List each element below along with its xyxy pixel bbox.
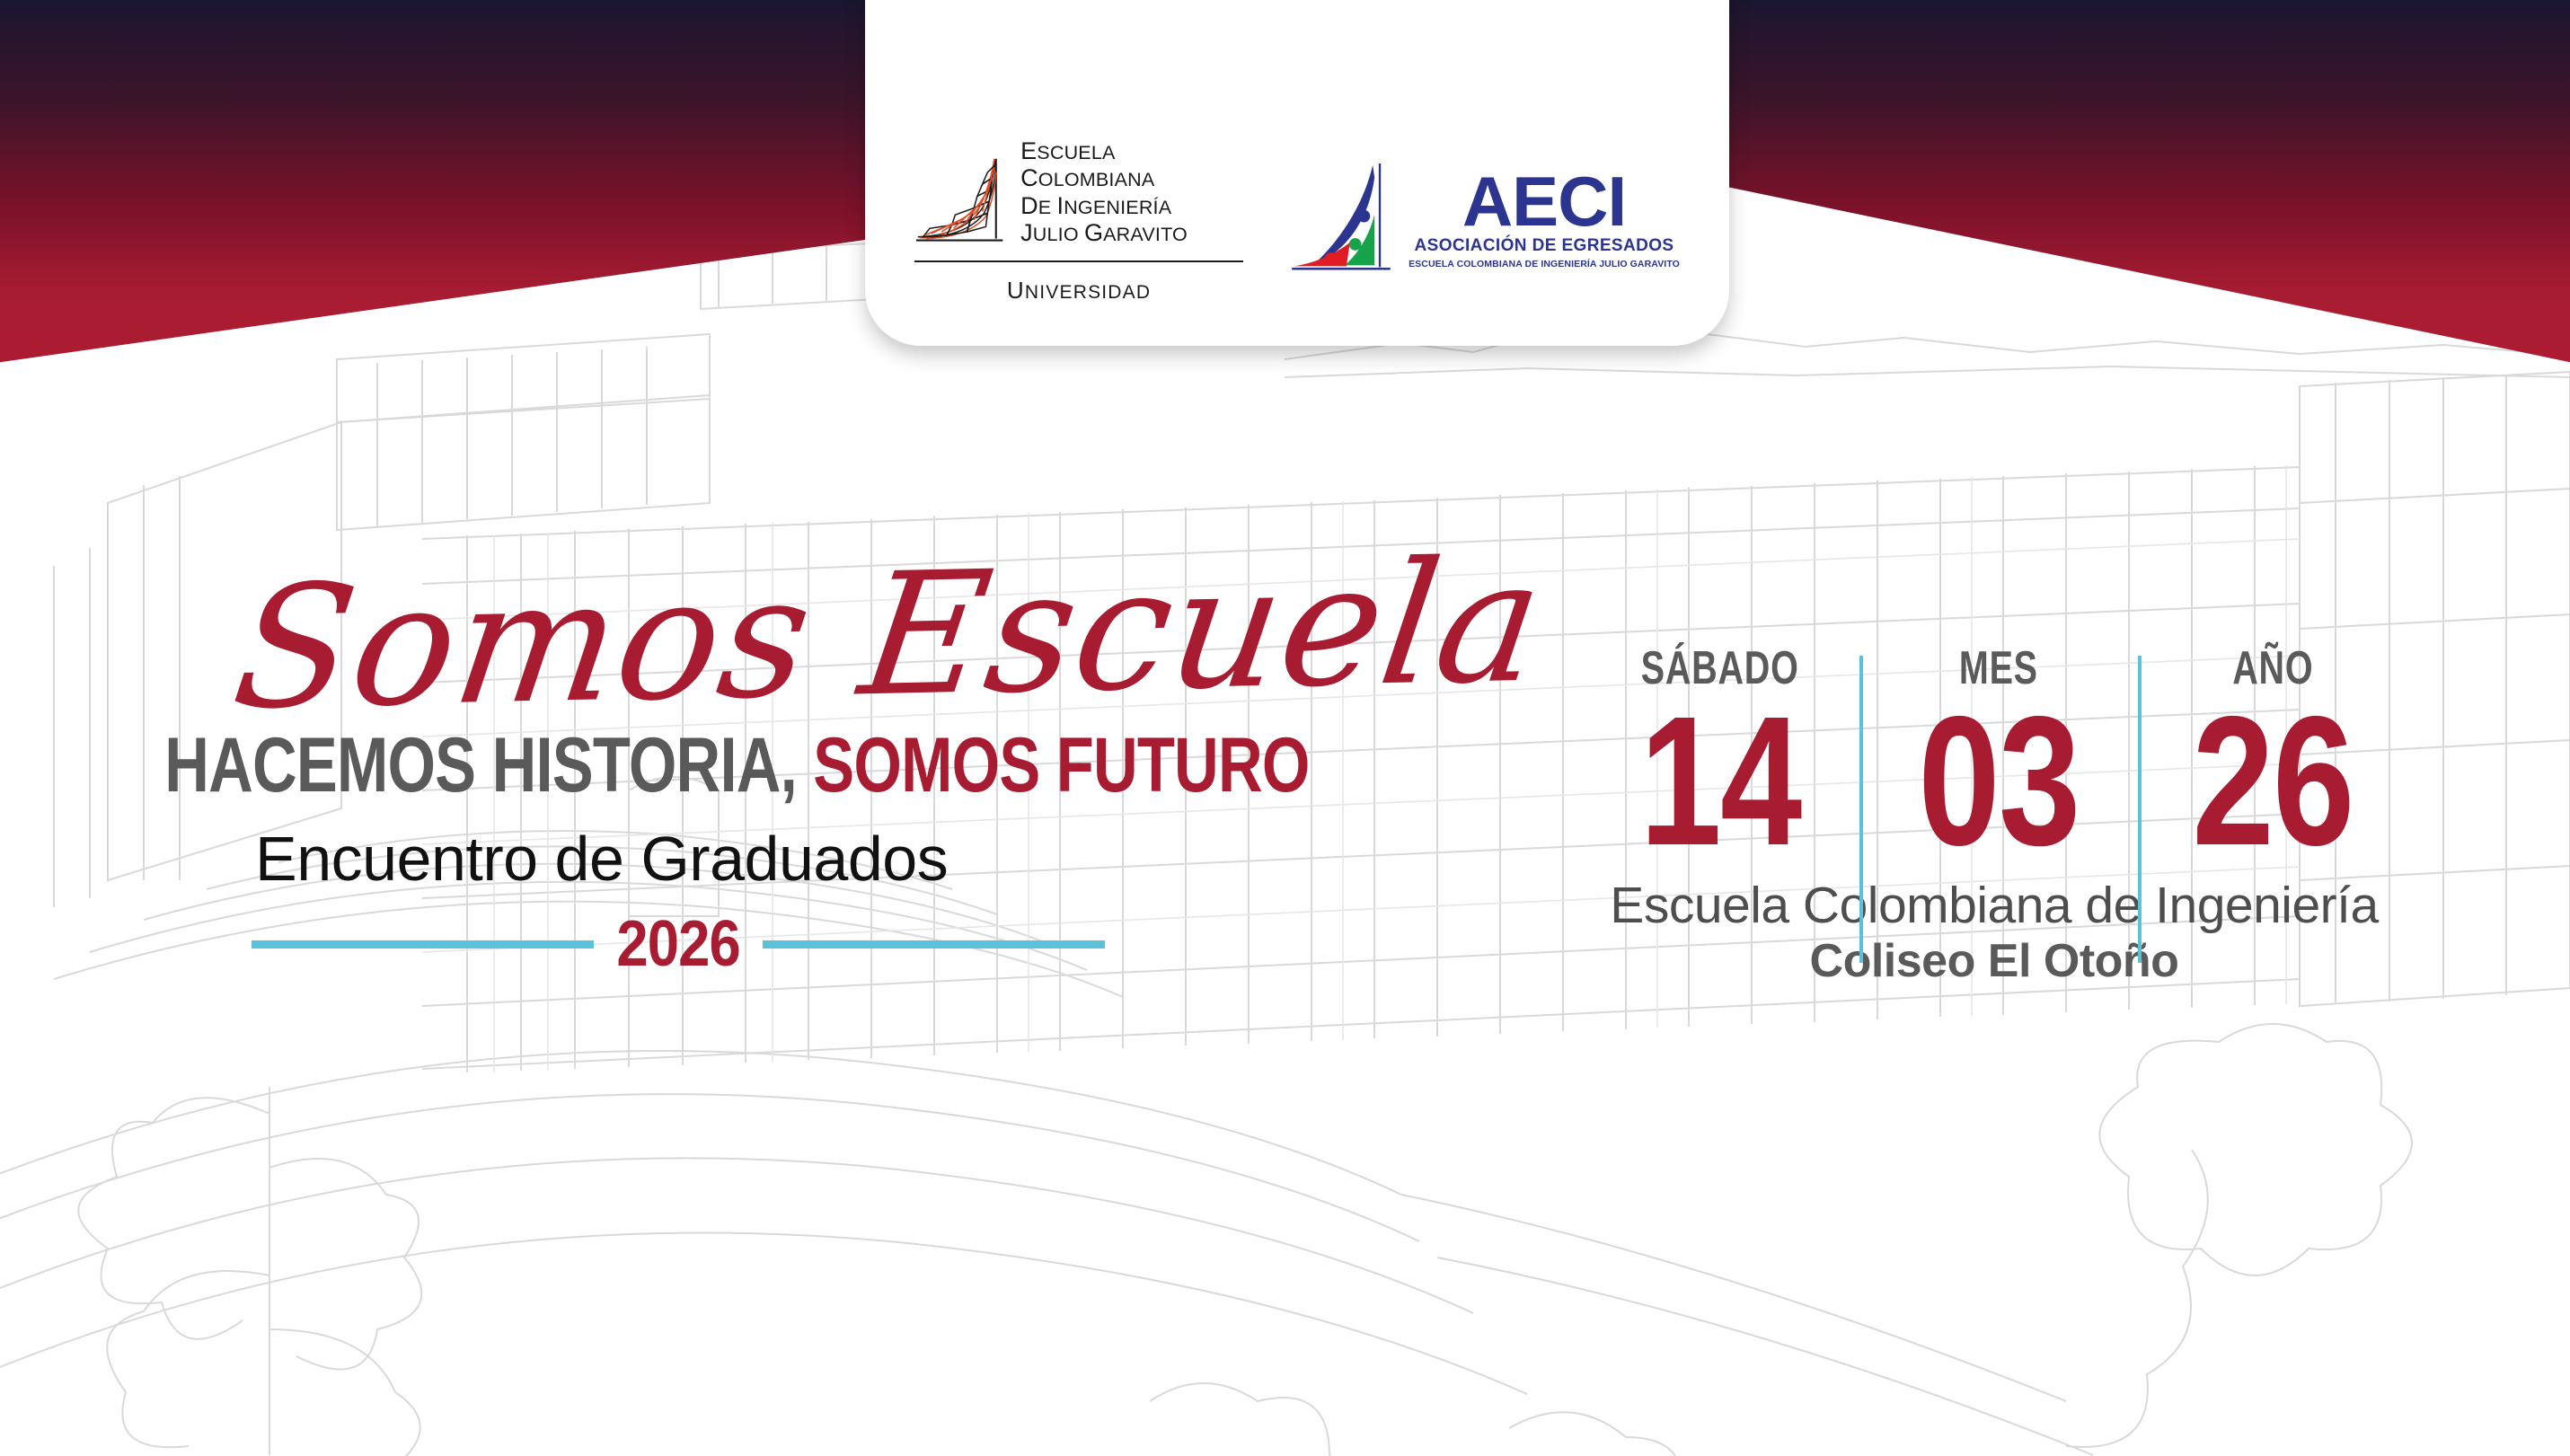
eci-wordmark-line-3: DE INGENIERÍA bbox=[1020, 192, 1188, 220]
eci-wordmark-line-2: COLOMBIANA bbox=[1020, 164, 1188, 192]
logo-row: ESCUELA COLOMBIANA DE INGENIERÍA JULIO G… bbox=[914, 137, 1680, 305]
date-block: SÁBADO 14 MES 03 AÑO 26 Escuela Colombia… bbox=[1545, 645, 2443, 988]
tagline-gray: HACEMOS HISTORIA, bbox=[164, 722, 797, 808]
eci-descriptor: UNIVERSIDAD bbox=[914, 277, 1243, 304]
date-column-month: MES 03 bbox=[1859, 645, 2138, 867]
tagline: HACEMOS HISTORIA, SOMOS FUTURO bbox=[162, 727, 1254, 804]
poster-canvas: ESCUELA COLOMBIANA DE INGENIERÍA JULIO G… bbox=[0, 0, 2570, 1456]
eci-logo-top: ESCUELA COLOMBIANA DE INGENIERÍA JULIO G… bbox=[914, 137, 1243, 249]
date-value-month: 03 bbox=[1918, 697, 2079, 867]
year-rule-left bbox=[252, 940, 594, 949]
venue-place: Coliseo El Otoño bbox=[1545, 936, 2443, 987]
year-rule-right bbox=[763, 940, 1105, 949]
date-value-year: 26 bbox=[2192, 697, 2353, 867]
aeci-subtitle: ASOCIACIÓN DE EGRESADOS bbox=[1415, 236, 1674, 256]
date-column-year: AÑO 26 bbox=[2138, 645, 2407, 867]
date-columns: SÁBADO 14 MES 03 AÑO 26 bbox=[1545, 645, 2443, 867]
year-value: 2026 bbox=[604, 912, 753, 976]
tagline-red: SOMOS FUTURO bbox=[813, 722, 1309, 808]
eci-wordmark-line-1: ESCUELA bbox=[1020, 137, 1188, 165]
aeci-acronym: AECI bbox=[1462, 172, 1626, 232]
eci-logo: ESCUELA COLOMBIANA DE INGENIERÍA JULIO G… bbox=[914, 137, 1243, 305]
eci-divider-rule bbox=[914, 260, 1243, 263]
headline-block: Somos Escuela HACEMOS HISTORIA, SOMOS FU… bbox=[162, 575, 1527, 976]
event-subtitle: Encuentro de Graduados bbox=[255, 827, 1527, 890]
banner-right-gradient bbox=[1663, 0, 2570, 377]
banner-left-gradient bbox=[0, 0, 907, 377]
date-value-day: 14 bbox=[1639, 697, 1800, 867]
aeci-institution: ESCUELA COLOMBIANA DE INGENIERÍA JULIO G… bbox=[1409, 259, 1680, 269]
venue-block: Escuela Colombiana de Ingeniería Coliseo… bbox=[1545, 879, 2443, 988]
venue-institution: Escuela Colombiana de Ingeniería bbox=[1545, 879, 2443, 933]
logo-card: ESCUELA COLOMBIANA DE INGENIERÍA JULIO G… bbox=[865, 0, 1729, 346]
eci-curve-grid-icon bbox=[914, 155, 1008, 249]
aeci-logo: AECI ASOCIACIÓN DE EGRESADOS ESCUELA COL… bbox=[1288, 162, 1680, 280]
aeci-text-group: AECI ASOCIACIÓN DE EGRESADOS ESCUELA COL… bbox=[1409, 172, 1680, 269]
year-row: 2026 bbox=[252, 912, 1105, 976]
script-title: Somos Escuela bbox=[227, 548, 1541, 723]
eci-wordmark-line-4: JULIO GARAVITO bbox=[1020, 219, 1188, 247]
eci-wordmark: ESCUELA COLOMBIANA DE INGENIERÍA JULIO G… bbox=[1020, 137, 1188, 249]
aeci-figures-icon bbox=[1288, 162, 1394, 280]
date-column-day: SÁBADO 14 bbox=[1581, 645, 1859, 867]
